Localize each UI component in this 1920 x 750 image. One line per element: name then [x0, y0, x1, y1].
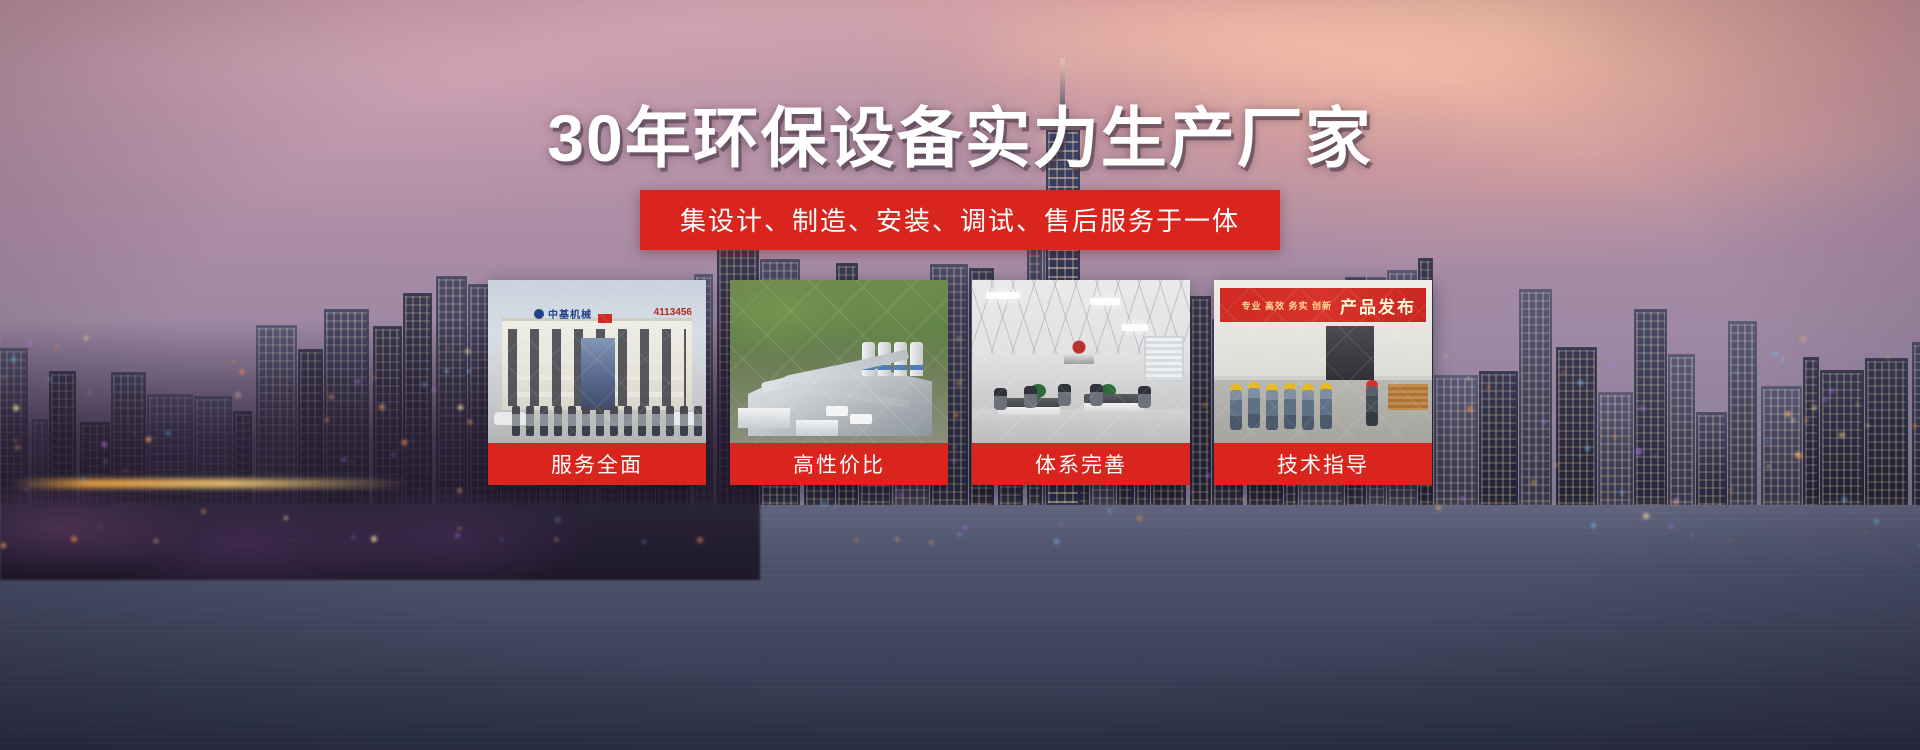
card-label-system: 体系完善: [972, 443, 1190, 485]
feature-card-system[interactable]: 体系完善: [972, 280, 1190, 485]
card-label-guidance: 技术指导: [1214, 443, 1432, 485]
hero-banner: 30年环保设备实力生产厂家 集设计、制造、安装、调试、售后服务于一体 中基机械 …: [0, 0, 1920, 750]
subtitle-badge: 集设计、制造、安装、调试、售后服务于一体: [640, 190, 1280, 250]
watermark-overlay: [972, 280, 1190, 443]
card-label-service: 服务全面: [488, 443, 706, 485]
feature-card-list: 中基机械 4113456: [0, 280, 1920, 485]
feature-card-value[interactable]: 高性价比: [730, 280, 948, 485]
card-photo-office-building: 中基机械 4113456: [488, 280, 706, 443]
watermark-overlay: [1214, 280, 1432, 443]
watermark-overlay: [488, 280, 706, 443]
feature-card-service[interactable]: 中基机械 4113456: [488, 280, 706, 485]
watermark-overlay: [730, 280, 948, 443]
card-photo-workshop-workers: 专业 高效 务实 创新 产品发布: [1214, 280, 1432, 443]
card-label-value: 高性价比: [730, 443, 948, 485]
card-photo-industrial-plant: [730, 280, 948, 443]
page-title: 30年环保设备实力生产厂家: [0, 104, 1920, 173]
card-photo-office-interior: [972, 280, 1190, 443]
banner-content: 30年环保设备实力生产厂家 集设计、制造、安装、调试、售后服务于一体 中基机械 …: [0, 0, 1920, 750]
subtitle-row: 集设计、制造、安装、调试、售后服务于一体: [0, 190, 1920, 250]
feature-card-guidance[interactable]: 专业 高效 务实 创新 产品发布: [1214, 280, 1432, 485]
